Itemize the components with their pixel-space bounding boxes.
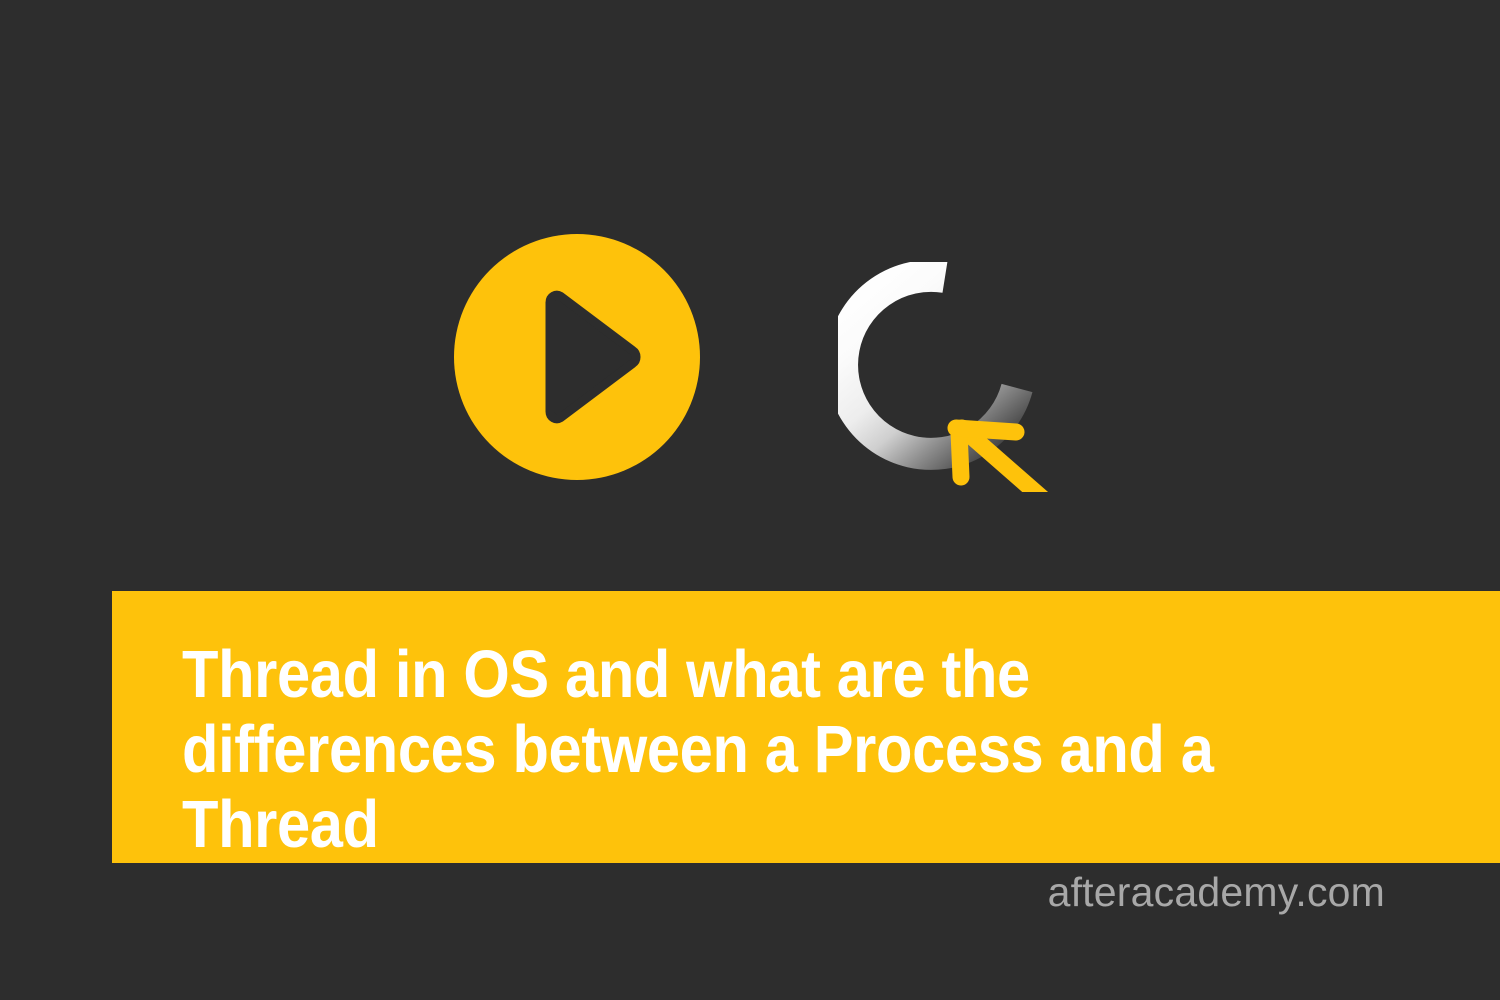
spinner-with-cursor: [838, 262, 1068, 492]
site-url-label: afteracademy.com: [1048, 869, 1385, 916]
play-button-icon: [454, 234, 700, 480]
play-button[interactable]: [454, 234, 700, 480]
hero-illustration: [0, 0, 1500, 591]
blog-cover-card: Thread in OS and what are the difference…: [0, 0, 1500, 1000]
page-title: Thread in OS and what are the difference…: [182, 637, 1303, 862]
title-banner: Thread in OS and what are the difference…: [112, 591, 1500, 863]
footer-bar: afteracademy.com: [0, 863, 1500, 1000]
